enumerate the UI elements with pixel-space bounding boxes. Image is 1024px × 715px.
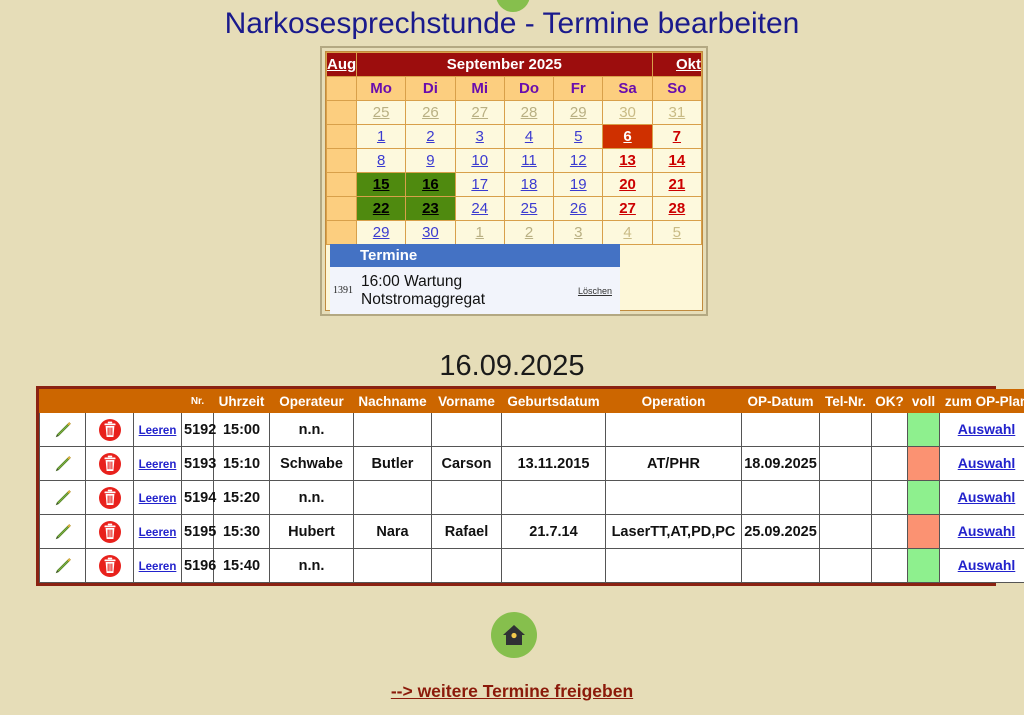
cell-operation (606, 481, 742, 515)
calendar-table: AugSeptember 2025OktMoDiMiDoFrSaSo252627… (326, 52, 702, 245)
calendar-week-number (327, 221, 357, 245)
pencil-icon (53, 488, 73, 508)
op-plan-select-link[interactable]: Auswahl (958, 421, 1016, 437)
calendar-day-link[interactable]: 27 (471, 104, 488, 121)
table-row: Leeren519215:00n.n.Auswahl (40, 413, 1024, 447)
table-row: Leeren519515:30HubertNaraRafael21.7.14La… (40, 515, 1024, 549)
col-header-nachname: Nachname (354, 390, 432, 413)
trash-icon (98, 418, 122, 442)
calendar-day-cell[interactable]: 18 (504, 173, 553, 197)
clear-appointment-link[interactable]: Leeren (139, 561, 177, 573)
col-header-zum-op-plan: zum OP-Plan (940, 390, 1024, 413)
calendar-day-link[interactable]: 20 (619, 176, 636, 193)
calendar-day-link[interactable]: 28 (669, 200, 686, 217)
calendar-week-row: 15161718192021 (327, 173, 702, 197)
col-header-tel-nr: Tel-Nr. (820, 390, 872, 413)
cell-telefon (820, 481, 872, 515)
cell-nr: 5192 (182, 413, 214, 447)
cell-uhrzeit: 15:20 (214, 481, 270, 515)
cell-operation: LaserTT,AT,PD,PC (606, 515, 742, 549)
calendar-day-cell[interactable]: 2 (504, 221, 553, 245)
calendar-day-cell[interactable]: 19 (554, 173, 603, 197)
cell-uhrzeit: 15:30 (214, 515, 270, 549)
col-header-operateur: Operateur (270, 390, 354, 413)
delete-appointment-button[interactable] (86, 515, 134, 549)
calendar-day-cell[interactable]: 20 (603, 173, 652, 197)
calendar-day-link[interactable]: 31 (669, 104, 686, 121)
cell-nr: 5194 (182, 481, 214, 515)
calendar-dow-so: So (652, 77, 701, 101)
cell-vorname (432, 549, 502, 583)
clear-appointment-cell[interactable]: Leeren (134, 549, 182, 583)
calendar-day-cell[interactable]: 4 (603, 221, 652, 245)
cell-operation: AT/PHR (606, 447, 742, 481)
trash-icon (98, 452, 122, 476)
calendar-dow-fr: Fr (554, 77, 603, 101)
calendar-week-row: 1234567 (327, 125, 702, 149)
calendar-day-link[interactable]: 3 (574, 224, 582, 241)
appointments-table-wrapper: Nr.UhrzeitOperateurNachnameVornameGeburt… (36, 386, 996, 586)
cell-operateur: n.n. (270, 549, 354, 583)
clear-appointment-link[interactable]: Leeren (139, 459, 177, 471)
cell-op-plan[interactable]: Auswahl (940, 447, 1024, 481)
delete-appointment-button[interactable] (86, 481, 134, 515)
calendar-dow-row: MoDiMiDoFrSaSo (327, 77, 702, 101)
cell-op-plan[interactable]: Auswahl (940, 481, 1024, 515)
calendar-day-link[interactable]: 14 (669, 152, 686, 169)
clear-appointment-cell[interactable]: Leeren (134, 447, 182, 481)
clear-appointment-cell[interactable]: Leeren (134, 413, 182, 447)
edit-appointment-button[interactable] (40, 549, 86, 583)
termine-header: Termine (330, 244, 620, 267)
pencil-icon (53, 522, 73, 542)
calendar-week-number (327, 197, 357, 221)
calendar-day-link[interactable]: 7 (673, 128, 681, 145)
clear-appointment-link[interactable]: Leeren (139, 425, 177, 437)
pencil-icon (53, 420, 73, 440)
calendar-day-link[interactable]: 8 (377, 152, 385, 169)
cell-geburtsdatum (502, 413, 606, 447)
calendar-day-link[interactable]: 27 (619, 200, 636, 217)
calendar-next-month[interactable]: Okt (652, 53, 701, 77)
cell-ok (872, 515, 908, 549)
cell-op-datum: 25.09.2025 (742, 515, 820, 549)
trash-icon (98, 486, 122, 510)
delete-appointment-button[interactable] (86, 447, 134, 481)
pencil-icon (53, 454, 73, 474)
col-header-geburtsdatum: Geburtsdatum (502, 390, 606, 413)
cell-operateur: Hubert (270, 515, 354, 549)
cell-vorname (432, 481, 502, 515)
calendar-dow-mi: Mi (455, 77, 504, 101)
cell-op-plan[interactable]: Auswahl (940, 515, 1024, 549)
cell-geburtsdatum (502, 549, 606, 583)
calendar-day-link[interactable]: 4 (623, 224, 631, 241)
calendar-dow-mo: Mo (357, 77, 406, 101)
table-row: Leeren519615:40n.n.Auswahl (40, 549, 1024, 583)
calendar-day-cell[interactable]: 5 (652, 221, 701, 245)
cell-ok (872, 549, 908, 583)
cell-telefon (820, 515, 872, 549)
col-header-uhrzeit: Uhrzeit (214, 390, 270, 413)
calendar-day-cell[interactable]: 1 (455, 221, 504, 245)
col-header-voll: voll (908, 390, 940, 413)
cell-voll-status (908, 447, 940, 481)
appointments-table: Nr.UhrzeitOperateurNachnameVornameGeburt… (39, 389, 1024, 583)
calendar-day-link[interactable]: 25 (521, 200, 538, 217)
calendar-prev-month[interactable]: Aug (327, 53, 357, 77)
calendar-day-cell[interactable]: 14 (652, 149, 701, 173)
calendar-month-title: September 2025 (357, 53, 653, 77)
table-row: Leeren519415:20n.n.Auswahl (40, 481, 1024, 515)
calendar-week-number (327, 173, 357, 197)
calendar-day-link[interactable]: 19 (570, 176, 587, 193)
calendar-day-link[interactable]: 4 (525, 128, 533, 145)
cell-ok (872, 481, 908, 515)
calendar-week-row: 891011121314 (327, 149, 702, 173)
cell-vorname: Rafael (432, 515, 502, 549)
cell-operateur: n.n. (270, 413, 354, 447)
cell-operation (606, 413, 742, 447)
cell-voll-status (908, 549, 940, 583)
calendar-day-cell[interactable]: 21 (652, 173, 701, 197)
calendar-day-link[interactable]: 24 (471, 200, 488, 217)
col-header-op-datum: OP-Datum (742, 390, 820, 413)
calendar-day-cell[interactable]: 25 (357, 101, 406, 125)
calendar-day-cell[interactable]: 23 (406, 197, 455, 221)
cell-nachname: Nara (354, 515, 432, 549)
calendar-day-cell[interactable]: 4 (504, 125, 553, 149)
calendar-day-link[interactable]: 26 (422, 104, 439, 121)
col-header-blank-1 (86, 390, 134, 413)
cell-ok (872, 413, 908, 447)
calendar-title-row: AugSeptember 2025Okt (327, 53, 702, 77)
calendar-day-link[interactable]: 23 (422, 200, 439, 217)
calendar-day-cell[interactable]: 8 (357, 149, 406, 173)
calendar-week-number (327, 149, 357, 173)
calendar-day-cell[interactable]: 6 (603, 125, 652, 149)
calendar-day-cell[interactable]: 13 (603, 149, 652, 173)
cell-op-datum (742, 481, 820, 515)
calendar-day-cell[interactable]: 16 (406, 173, 455, 197)
col-header-vorname: Vorname (432, 390, 502, 413)
cell-operateur: Schwabe (270, 447, 354, 481)
cell-uhrzeit: 15:40 (214, 549, 270, 583)
calendar-day-cell[interactable]: 12 (554, 149, 603, 173)
calendar-day-cell[interactable]: 30 (406, 221, 455, 245)
termine-entry: 1391 16:00 Wartung Notstromaggregat Lösc… (330, 267, 620, 314)
calendar-day-link[interactable]: 1 (377, 128, 385, 145)
col-header-ok: OK? (872, 390, 908, 413)
calendar-day-cell[interactable]: 11 (504, 149, 553, 173)
trash-icon (98, 520, 122, 544)
home-icon (501, 623, 527, 647)
cell-op-plan[interactable]: Auswahl (940, 549, 1024, 583)
calendar-day-cell[interactable]: 27 (455, 101, 504, 125)
op-plan-select-link[interactable]: Auswahl (958, 523, 1016, 539)
cell-operation (606, 549, 742, 583)
calendar-day-cell[interactable]: 5 (554, 125, 603, 149)
cell-op-datum (742, 413, 820, 447)
calendar-day-cell[interactable]: 25 (504, 197, 553, 221)
cell-uhrzeit: 15:00 (214, 413, 270, 447)
cell-telefon (820, 413, 872, 447)
pencil-icon (53, 556, 73, 576)
calendar-day-cell[interactable]: 29 (357, 221, 406, 245)
cell-nr: 5193 (182, 447, 214, 481)
col-header-operation: Operation (606, 390, 742, 413)
calendar-day-link[interactable]: 9 (426, 152, 434, 169)
appointments-header-row: Nr.UhrzeitOperateurNachnameVornameGeburt… (40, 390, 1024, 413)
cell-operateur: n.n. (270, 481, 354, 515)
op-plan-select-link[interactable]: Auswahl (958, 455, 1016, 471)
calendar-day-cell[interactable]: 22 (357, 197, 406, 221)
calendar-day-cell[interactable]: 31 (652, 101, 701, 125)
calendar-day-cell[interactable]: 3 (554, 221, 603, 245)
cell-nr: 5195 (182, 515, 214, 549)
cell-nachname (354, 549, 432, 583)
calendar-widget: AugSeptember 2025OktMoDiMiDoFrSaSo252627… (320, 46, 708, 316)
home-button[interactable] (491, 612, 537, 658)
calendar-day-cell[interactable]: 15 (357, 173, 406, 197)
calendar-week-row: 293012345 (327, 221, 702, 245)
calendar-week-number (327, 101, 357, 125)
calendar-day-link[interactable]: 29 (373, 224, 390, 241)
cell-telefon (820, 447, 872, 481)
cell-op-plan[interactable]: Auswahl (940, 413, 1024, 447)
cell-nachname: Butler (354, 447, 432, 481)
calendar-week-row: 22232425262728 (327, 197, 702, 221)
col-header-blank-2 (134, 390, 182, 413)
release-more-appointments-link[interactable]: --> weitere Termine freigeben (391, 681, 633, 701)
termine-panel: Termine 1391 16:00 Wartung Notstromaggre… (330, 244, 620, 314)
calendar-day-link[interactable]: 15 (373, 176, 390, 193)
calendar-day-link[interactable]: 6 (623, 128, 631, 145)
cell-voll-status (908, 413, 940, 447)
edit-appointment-button[interactable] (40, 481, 86, 515)
page-title: Narkosesprechstunde - Termine bearbeiten (0, 7, 1024, 41)
calendar-day-cell[interactable]: 2 (406, 125, 455, 149)
cell-voll-status (908, 481, 940, 515)
calendar-day-link[interactable]: 5 (574, 128, 582, 145)
calendar-day-link[interactable]: 29 (570, 104, 587, 121)
table-row: Leeren519315:10SchwabeButlerCarson13.11.… (40, 447, 1024, 481)
cell-geburtsdatum: 21.7.14 (502, 515, 606, 549)
op-plan-select-link[interactable]: Auswahl (958, 557, 1016, 573)
calendar-day-link[interactable]: 17 (471, 176, 488, 193)
selected-date-heading: 16.09.2025 (0, 350, 1024, 383)
calendar-day-link[interactable]: 30 (422, 224, 439, 241)
calendar-day-cell[interactable]: 1 (357, 125, 406, 149)
release-more-appointments: --> weitere Termine freigeben (0, 681, 1024, 702)
calendar-day-link[interactable]: 13 (619, 152, 636, 169)
cell-nachname (354, 481, 432, 515)
cell-vorname (432, 413, 502, 447)
col-header-blank-0 (40, 390, 86, 413)
clear-appointment-cell[interactable]: Leeren (134, 481, 182, 515)
calendar-day-link[interactable]: 26 (570, 200, 587, 217)
edit-appointment-button[interactable] (40, 515, 86, 549)
calendar-day-cell[interactable]: 27 (603, 197, 652, 221)
calendar-day-cell[interactable]: 9 (406, 149, 455, 173)
cell-vorname: Carson (432, 447, 502, 481)
calendar-day-link[interactable]: 21 (669, 176, 686, 193)
calendar-day-cell[interactable]: 28 (504, 101, 553, 125)
cell-op-datum (742, 549, 820, 583)
calendar-day-cell[interactable]: 29 (554, 101, 603, 125)
calendar-day-link[interactable]: 28 (521, 104, 538, 121)
calendar-day-link[interactable]: 1 (476, 224, 484, 241)
calendar-day-cell[interactable]: 30 (603, 101, 652, 125)
calendar-week-col (327, 77, 357, 101)
calendar-dow-do: Do (504, 77, 553, 101)
calendar-inner: AugSeptember 2025OktMoDiMiDoFrSaSo252627… (325, 51, 703, 311)
termine-entry-id: 1391 (333, 285, 361, 296)
calendar-day-link[interactable]: 2 (525, 224, 533, 241)
calendar-day-cell[interactable]: 24 (455, 197, 504, 221)
termine-entry-text: 16:00 Wartung Notstromaggregat (361, 273, 578, 308)
termine-delete-link[interactable]: Löschen (578, 286, 616, 296)
cell-geburtsdatum (502, 481, 606, 515)
trash-icon (98, 554, 122, 578)
calendar-day-link[interactable]: 30 (619, 104, 636, 121)
clear-appointment-link[interactable]: Leeren (139, 527, 177, 539)
calendar-day-link[interactable]: 10 (471, 152, 488, 169)
cell-nr: 5196 (182, 549, 214, 583)
calendar-day-link[interactable]: 12 (570, 152, 587, 169)
cell-op-datum: 18.09.2025 (742, 447, 820, 481)
calendar-day-cell[interactable]: 10 (455, 149, 504, 173)
calendar-day-cell[interactable]: 7 (652, 125, 701, 149)
clear-appointment-cell[interactable]: Leeren (134, 515, 182, 549)
edit-appointment-button[interactable] (40, 447, 86, 481)
calendar-day-link[interactable]: 18 (521, 176, 538, 193)
calendar-dow-di: Di (406, 77, 455, 101)
delete-appointment-button[interactable] (86, 549, 134, 583)
calendar-day-link[interactable]: 2 (426, 128, 434, 145)
cell-nachname (354, 413, 432, 447)
cell-ok (872, 447, 908, 481)
clear-appointment-link[interactable]: Leeren (139, 493, 177, 505)
calendar-dow-sa: Sa (603, 77, 652, 101)
cell-telefon (820, 549, 872, 583)
calendar-day-link[interactable]: 25 (373, 104, 390, 121)
calendar-day-cell[interactable]: 26 (554, 197, 603, 221)
calendar-day-link[interactable]: 11 (521, 152, 537, 169)
calendar-day-link[interactable]: 5 (673, 224, 681, 241)
calendar-day-link[interactable]: 16 (422, 176, 439, 193)
cell-uhrzeit: 15:10 (214, 447, 270, 481)
cell-voll-status (908, 515, 940, 549)
delete-appointment-button[interactable] (86, 413, 134, 447)
calendar-day-link[interactable]: 22 (373, 200, 390, 217)
calendar-day-cell[interactable]: 17 (455, 173, 504, 197)
op-plan-select-link[interactable]: Auswahl (958, 489, 1016, 505)
cell-geburtsdatum: 13.11.2015 (502, 447, 606, 481)
calendar-day-cell[interactable]: 3 (455, 125, 504, 149)
edit-appointment-button[interactable] (40, 413, 86, 447)
calendar-day-cell[interactable]: 26 (406, 101, 455, 125)
calendar-week-number (327, 125, 357, 149)
calendar-day-cell[interactable]: 28 (652, 197, 701, 221)
calendar-day-link[interactable]: 3 (476, 128, 484, 145)
col-header-nr: Nr. (182, 390, 214, 413)
calendar-week-row: 25262728293031 (327, 101, 702, 125)
